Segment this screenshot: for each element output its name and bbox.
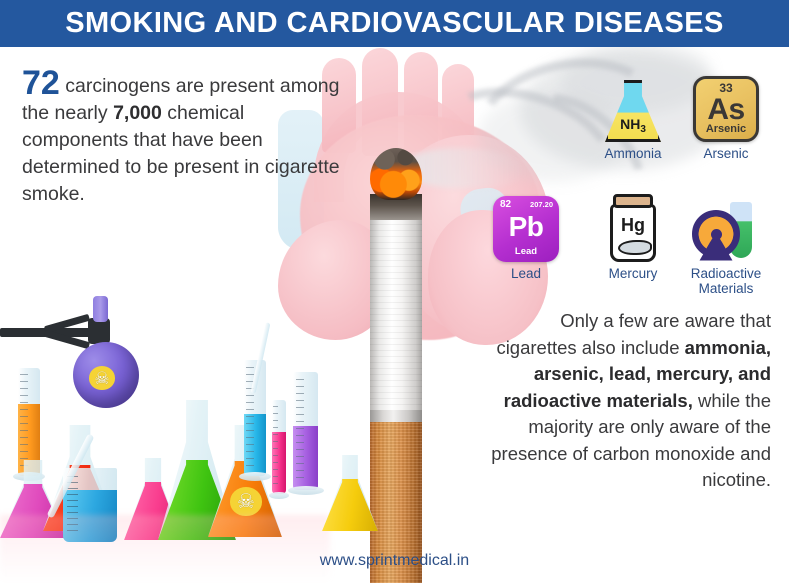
chemical-item-ammonia[interactable]: NH3 Ammonia <box>590 62 676 161</box>
chemical-component-count: 7,000 <box>113 102 162 124</box>
graduated-cylinder-cyan <box>244 360 266 476</box>
radioactive-label-line-2: Materials <box>699 281 754 296</box>
tube-base <box>269 492 289 499</box>
lead-symbol: Pb <box>493 211 559 243</box>
lead-atomic-number: 82 <box>500 199 511 210</box>
chemical-label-mercury: Mercury <box>590 266 676 281</box>
awareness-text: Only a few are aware that cigarettes als… <box>481 308 771 494</box>
chemical-item-arsenic[interactable]: 33 As Arsenic Arsenic <box>683 62 769 161</box>
skull-and-crossbones-icon <box>230 487 262 516</box>
chemical-label-lead: Lead <box>483 266 569 281</box>
skull-and-crossbones-icon <box>89 366 115 390</box>
ammonia-formula: NH3 <box>605 116 661 135</box>
mercury-droplet <box>618 240 652 255</box>
cylinder-base <box>239 472 271 481</box>
trefoil-core <box>711 229 722 240</box>
laboratory-glassware-illustration <box>0 290 330 583</box>
liquid-pink-tube <box>272 432 286 494</box>
mercury-jar-icon: Hg <box>590 182 676 262</box>
graduated-cylinder-purple <box>293 372 318 490</box>
carcinogen-count: 72 <box>22 64 60 102</box>
mercury-symbol: Hg <box>613 215 653 236</box>
cigarette-band <box>370 410 422 422</box>
chemical-item-mercury[interactable]: Hg Mercury <box>590 182 676 281</box>
chemical-label-arsenic: Arsenic <box>683 146 769 161</box>
chemical-label-radioactive: Radioactive Materials <box>683 266 769 296</box>
test-tube-pink <box>272 400 286 494</box>
erlenmeyer-flask-yellow <box>322 455 378 531</box>
page-title: SMOKING AND CARDIOVASCULAR DISEASES <box>65 7 724 40</box>
intro-statistic-text: 72 carcinogens are present among the nea… <box>22 68 342 208</box>
conical-flask-icon: NH3 <box>590 62 676 142</box>
liquid-yellow <box>322 479 378 531</box>
glassware-reflection <box>0 515 330 583</box>
liquid-purple <box>293 426 318 490</box>
cigarette-ember <box>370 148 422 200</box>
chemical-label-ammonia: Ammonia <box>590 146 676 161</box>
trefoil-symbol <box>692 210 740 258</box>
lead-element-name: Lead <box>493 246 559 257</box>
chemical-item-radioactive[interactable]: Radioactive Materials <box>683 182 769 296</box>
jar-cork <box>613 194 653 208</box>
liquid-cyan <box>244 414 266 476</box>
chemical-item-lead[interactable]: 82 207.20 Pb Lead Lead <box>483 182 569 281</box>
radioactive-trefoil-icon <box>683 182 769 262</box>
footer-website-url[interactable]: www.sprintmedical.in <box>0 552 789 570</box>
cylinder-base <box>288 486 324 495</box>
round-flask-neck <box>93 296 108 322</box>
cigarette-paper <box>370 218 422 414</box>
lead-atomic-mass: 207.20 <box>530 200 553 209</box>
periodic-tile-icon: 82 207.20 Pb Lead <box>483 182 569 262</box>
arsenic-symbol: As <box>696 93 756 127</box>
arsenic-element-name: Arsenic <box>696 123 756 135</box>
header-bar: SMOKING AND CARDIOVASCULAR DISEASES <box>0 0 789 47</box>
infographic-poster: SMOKING AND CARDIOVASCULAR DISEASES 72 c… <box>0 0 789 583</box>
periodic-tile-icon: 33 As Arsenic <box>683 62 769 142</box>
